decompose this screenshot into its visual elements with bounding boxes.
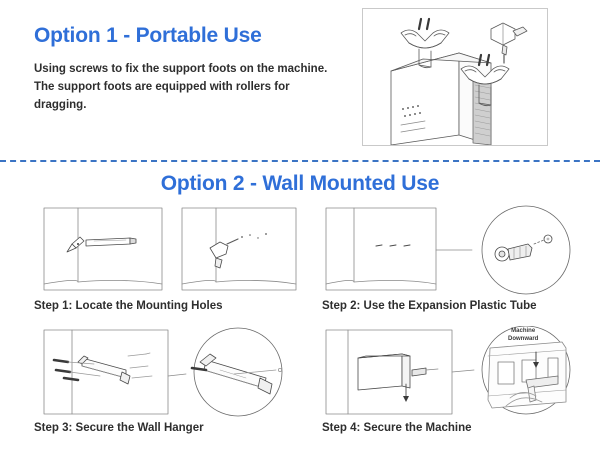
option-2-title: Option 2 - Wall Mounted Use — [0, 172, 600, 196]
step-caption: Step 2: Use the Expansion Plastic Tube — [322, 300, 537, 312]
option-1-body-text: Using screws to fix the support foots on… — [34, 61, 334, 114]
annotation-line-1: Machine — [508, 328, 538, 336]
step4-secure-machine-illustration: Machine Downward — [322, 326, 594, 418]
option-1-section: Option 1 - Portable Use Using screws to … — [0, 0, 600, 158]
step-caption: Step 3: Secure the Wall Hanger — [34, 422, 204, 434]
step-item-1: Step 1: Locate the Mounting Holes — [34, 204, 314, 322]
option-1-title: Option 1 - Portable Use — [34, 24, 334, 47]
steps-grid: Step 1: Locate the Mounting Holes — [0, 204, 600, 450]
annotation-line-2: Downward — [508, 336, 538, 344]
step3-secure-wall-hanger-illustration — [34, 326, 306, 418]
step-caption: Step 1: Locate the Mounting Holes — [34, 300, 222, 312]
option-2-section: Option 2 - Wall Mounted Use — [0, 162, 600, 450]
option-1-text-column: Option 1 - Portable Use Using screws to … — [34, 24, 334, 115]
portable-use-illustration — [362, 8, 548, 146]
machine-downward-annotation: Machine Downward — [508, 328, 538, 343]
step1-locate-mounting-holes-illustration — [34, 204, 306, 296]
step2-expansion-plastic-tube-illustration — [322, 204, 594, 296]
step-item-2: Step 2: Use the Expansion Plastic Tube — [322, 204, 600, 322]
step-item-3: Step 3: Secure the Wall Hanger — [34, 326, 314, 444]
step-item-4: Machine Downward Step 4: Secure the Mach… — [322, 326, 600, 444]
step-caption: Step 4: Secure the Machine — [322, 422, 472, 434]
